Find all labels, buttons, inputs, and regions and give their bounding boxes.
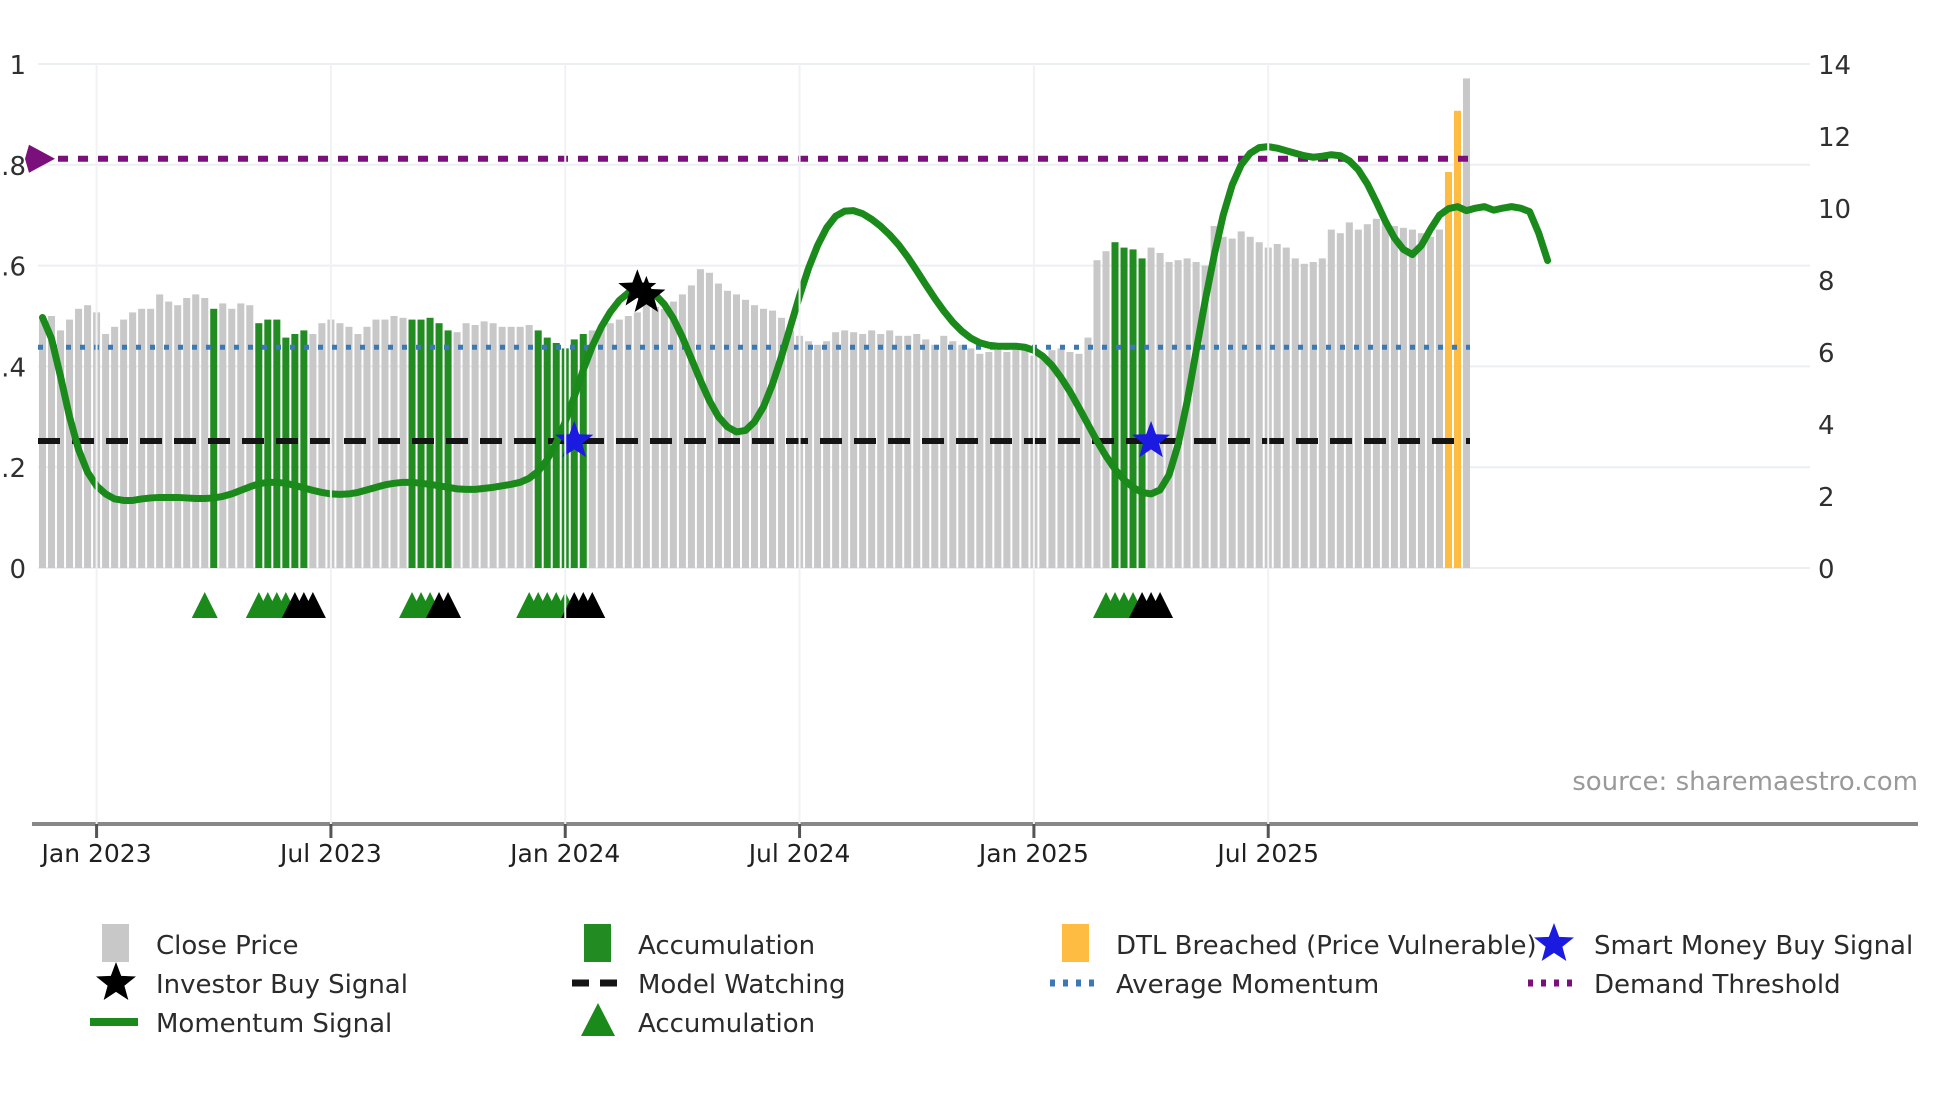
chart-container: 00.20.40.60.8102468101214Jan 2023Jul 202… <box>0 0 1960 1102</box>
chart-canvas: 00.20.40.60.8102468101214Jan 2023Jul 202… <box>0 0 1960 1102</box>
bar-close-price[interactable] <box>859 334 866 568</box>
bar-accumulation[interactable] <box>264 320 271 568</box>
bar-close-price[interactable] <box>1102 251 1109 568</box>
y-axis-left-tick-label: 0.2 <box>0 454 26 484</box>
bar-accumulation[interactable] <box>1111 242 1118 568</box>
bar-close-price[interactable] <box>1292 258 1299 568</box>
y-axis-left-tick-label: 0 <box>9 555 26 585</box>
legend-accumulation-bar[interactable]: Accumulation <box>584 924 815 962</box>
bar-close-price[interactable] <box>715 284 722 568</box>
bar-close-price[interactable] <box>1418 233 1425 568</box>
bar-close-price[interactable] <box>363 327 370 568</box>
y-axis-right-tick-label: 12 <box>1818 123 1851 153</box>
bar-close-price[interactable] <box>1364 224 1371 568</box>
bar-close-price[interactable] <box>1021 345 1028 568</box>
bar-close-price[interactable] <box>1391 226 1398 568</box>
bar-close-price[interactable] <box>1229 239 1236 568</box>
legend-dtl-breached[interactable]: DTL Breached (Price Vulnerable) <box>1062 924 1537 962</box>
bar-accumulation[interactable] <box>1139 258 1146 568</box>
legend-item-label: DTL Breached (Price Vulnerable) <box>1116 931 1537 961</box>
legend-swatch-star <box>1534 923 1574 961</box>
bar-close-price[interactable] <box>598 329 605 568</box>
y-axis-right-tick-label: 2 <box>1818 483 1835 513</box>
bar-close-price[interactable] <box>1220 237 1227 568</box>
bar-close-price[interactable] <box>454 332 461 568</box>
bar-accumulation[interactable] <box>553 343 560 568</box>
bar-accumulation[interactable] <box>1121 248 1128 568</box>
bar-close-price[interactable] <box>1157 253 1164 568</box>
bar-close-price[interactable] <box>309 334 316 568</box>
bar-close-price[interactable] <box>336 323 343 568</box>
bar-close-price[interactable] <box>886 330 893 568</box>
bar-close-price[interactable] <box>1175 260 1182 568</box>
bar-close-price[interactable] <box>697 269 704 568</box>
legend-accumulation-marker[interactable]: Accumulation <box>581 1003 815 1039</box>
bar-close-price[interactable] <box>1283 248 1290 568</box>
bar-close-price[interactable] <box>868 330 875 568</box>
bar-close-price[interactable] <box>1166 262 1173 568</box>
source-attribution: source: sharemaestro.com <box>1572 767 1918 797</box>
bar-accumulation[interactable] <box>1130 249 1137 568</box>
bar-close-price[interactable] <box>1256 242 1263 568</box>
legend-item-label: Close Price <box>156 931 299 961</box>
legend-demand-threshold[interactable]: Demand Threshold <box>1528 970 1841 1000</box>
bar-close-price[interactable] <box>787 330 794 568</box>
bar-close-price[interactable] <box>967 348 974 568</box>
bar-close-price[interactable] <box>174 305 181 568</box>
bar-close-price[interactable] <box>1400 228 1407 568</box>
bar-close-price[interactable] <box>1319 258 1326 568</box>
legend-investor-buy[interactable]: Investor Buy Signal <box>96 962 408 1000</box>
y-axis-left-tick-label: 0.8 <box>0 152 26 182</box>
bar-close-price[interactable] <box>688 285 695 568</box>
bar-close-price[interactable] <box>589 330 596 568</box>
bar-accumulation[interactable] <box>282 338 289 568</box>
accumulation-triangle[interactable] <box>192 592 218 618</box>
bar-close-price[interactable] <box>1409 230 1416 568</box>
legend-item-label: Smart Money Buy Signal <box>1594 931 1913 961</box>
bar-close-price[interactable] <box>985 352 992 568</box>
bar-close-price[interactable] <box>922 339 929 568</box>
bar-close-price[interactable] <box>1148 248 1155 568</box>
bar-close-price[interactable] <box>805 341 812 568</box>
y-axis-left-tick-label: 0.6 <box>0 253 26 283</box>
bar-close-price[interactable] <box>517 327 524 568</box>
bar-close-price[interactable] <box>1084 338 1091 568</box>
bar-close-price[interactable] <box>706 273 713 568</box>
bar-close-price[interactable] <box>841 330 848 568</box>
bar-accumulation[interactable] <box>436 323 443 568</box>
y-axis-left-tick-label: 0.4 <box>0 353 26 383</box>
bar-close-price[interactable] <box>499 327 506 568</box>
bar-close-price[interactable] <box>192 294 199 568</box>
bar-close-price[interactable] <box>1427 237 1434 568</box>
legend-item-label: Average Momentum <box>1116 970 1379 1000</box>
bar-close-price[interactable] <box>102 334 109 568</box>
legend-swatch-square <box>584 924 611 962</box>
legend-swatch-square <box>1062 924 1089 962</box>
bar-close-price[interactable] <box>345 327 352 568</box>
bar-close-price[interactable] <box>246 305 253 568</box>
bar-close-price[interactable] <box>165 302 172 568</box>
bar-close-price[interactable] <box>1382 222 1389 568</box>
bar-close-price[interactable] <box>1012 348 1019 568</box>
legend-swatch-square <box>102 924 129 962</box>
bar-dtl-breached[interactable] <box>1454 111 1461 568</box>
y-axis-left-tick-label: 1 <box>9 51 26 81</box>
bar-close-price[interactable] <box>1373 219 1380 568</box>
bar-close-price[interactable] <box>1328 230 1335 568</box>
y-axis-right-tick-label: 8 <box>1818 267 1835 297</box>
bar-close-price[interactable] <box>940 336 947 568</box>
bar-close-price[interactable] <box>994 348 1001 568</box>
bar-close-price[interactable] <box>237 303 244 568</box>
bar-close-price[interactable] <box>1301 264 1308 568</box>
bar-close-price[interactable] <box>1093 260 1100 568</box>
bar-close-price[interactable] <box>84 305 91 568</box>
bar-close-price[interactable] <box>472 325 479 568</box>
legend-item-label: Model Watching <box>638 970 845 1000</box>
bar-close-price[interactable] <box>607 323 614 568</box>
y-axis-right-tick-label: 6 <box>1818 339 1835 369</box>
x-axis-tick-label: Jan 2024 <box>508 839 620 868</box>
x-axis-tick-label: Jul 2024 <box>747 839 851 868</box>
bar-close-price[interactable] <box>183 298 190 568</box>
legend-group: Close PriceAccumulationDTL Breached (Pri… <box>90 923 1913 1039</box>
bar-close-price[interactable] <box>490 323 497 568</box>
bar-close-price[interactable] <box>814 345 821 568</box>
bar-accumulation[interactable] <box>535 330 542 568</box>
bar-close-price[interactable] <box>1075 354 1082 568</box>
legend-model-watching[interactable]: Model Watching <box>572 970 845 1000</box>
bar-close-price[interactable] <box>877 334 884 568</box>
y-axis-right-tick-label: 14 <box>1818 51 1851 81</box>
x-axis-tick-label: Jul 2025 <box>1215 839 1319 868</box>
x-axis-tick-label: Jul 2023 <box>278 839 382 868</box>
legend-momentum-signal[interactable]: Momentum Signal <box>90 1009 392 1039</box>
bar-close-price[interactable] <box>1039 357 1046 568</box>
bar-close-price[interactable] <box>1436 230 1443 568</box>
legend-swatch-triangle <box>581 1003 615 1036</box>
bar-close-price[interactable] <box>318 323 325 568</box>
bar-close-price[interactable] <box>1346 222 1353 568</box>
legend-item-label: Momentum Signal <box>156 1009 392 1039</box>
bar-close-price[interactable] <box>823 341 830 568</box>
x-axis-tick-label: Jan 2025 <box>977 839 1089 868</box>
bar-close-price[interactable] <box>1193 262 1200 568</box>
bar-close-price[interactable] <box>976 354 983 568</box>
bar-close-price[interactable] <box>1048 350 1055 568</box>
bar-close-price[interactable] <box>1238 231 1245 568</box>
bar-close-price[interactable] <box>931 345 938 568</box>
bar-close-price[interactable] <box>1337 233 1344 568</box>
bar-close-price[interactable] <box>481 321 488 568</box>
legend-item-label: Accumulation <box>638 931 815 961</box>
bar-close-price[interactable] <box>526 325 533 568</box>
legend-item-label: Accumulation <box>638 1009 815 1039</box>
y-axis-right-tick-label: 0 <box>1818 555 1835 585</box>
bar-close-price[interactable] <box>949 341 956 568</box>
bar-close-price[interactable] <box>111 327 118 568</box>
bar-close-price[interactable] <box>643 302 650 568</box>
bar-close-price[interactable] <box>1310 262 1317 568</box>
y-axis-right-tick-label: 4 <box>1818 411 1835 441</box>
x-axis-tick-label: Jan 2023 <box>40 839 152 868</box>
bar-close-price[interactable] <box>904 336 911 568</box>
bar-close-price[interactable] <box>832 332 839 568</box>
bar-close-price[interactable] <box>463 323 470 568</box>
legend-item-label: Investor Buy Signal <box>156 970 408 1000</box>
bar-close-price[interactable] <box>399 318 406 568</box>
bar-close-price[interactable] <box>508 327 515 568</box>
bar-close-price[interactable] <box>670 302 677 568</box>
bar-accumulation[interactable] <box>445 330 452 568</box>
bar-close-price[interactable] <box>129 312 136 568</box>
legend-close-price[interactable]: Close Price <box>102 924 299 962</box>
bar-accumulation[interactable] <box>300 330 307 568</box>
bar-close-price[interactable] <box>850 332 857 568</box>
bar-close-price[interactable] <box>913 334 920 568</box>
bar-close-price[interactable] <box>1274 244 1281 568</box>
bar-close-price[interactable] <box>958 345 965 568</box>
bar-close-price[interactable] <box>354 334 361 568</box>
bar-close-price[interactable] <box>751 305 758 568</box>
bar-close-price[interactable] <box>219 303 226 568</box>
y-axis-right-tick-label: 10 <box>1818 195 1851 225</box>
bar-close-price[interactable] <box>156 294 163 568</box>
bar-accumulation[interactable] <box>571 339 578 568</box>
bar-close-price[interactable] <box>895 336 902 568</box>
bar-close-price[interactable] <box>1003 352 1010 568</box>
bar-accumulation[interactable] <box>291 334 298 568</box>
bar-close-price[interactable] <box>1355 230 1362 568</box>
bar-close-price[interactable] <box>201 298 208 568</box>
legend-item-label: Demand Threshold <box>1594 970 1841 1000</box>
demand-threshold-marker <box>25 145 55 173</box>
bar-accumulation[interactable] <box>255 323 262 568</box>
legend-swatch-star <box>96 962 136 1000</box>
legend-smart-money-buy[interactable]: Smart Money Buy Signal <box>1534 923 1913 961</box>
bar-close-price[interactable] <box>1247 237 1254 568</box>
legend-average-momentum[interactable]: Average Momentum <box>1050 970 1379 1000</box>
bar-dtl-breached[interactable] <box>1445 172 1452 568</box>
bar-close-price[interactable] <box>1463 78 1470 568</box>
